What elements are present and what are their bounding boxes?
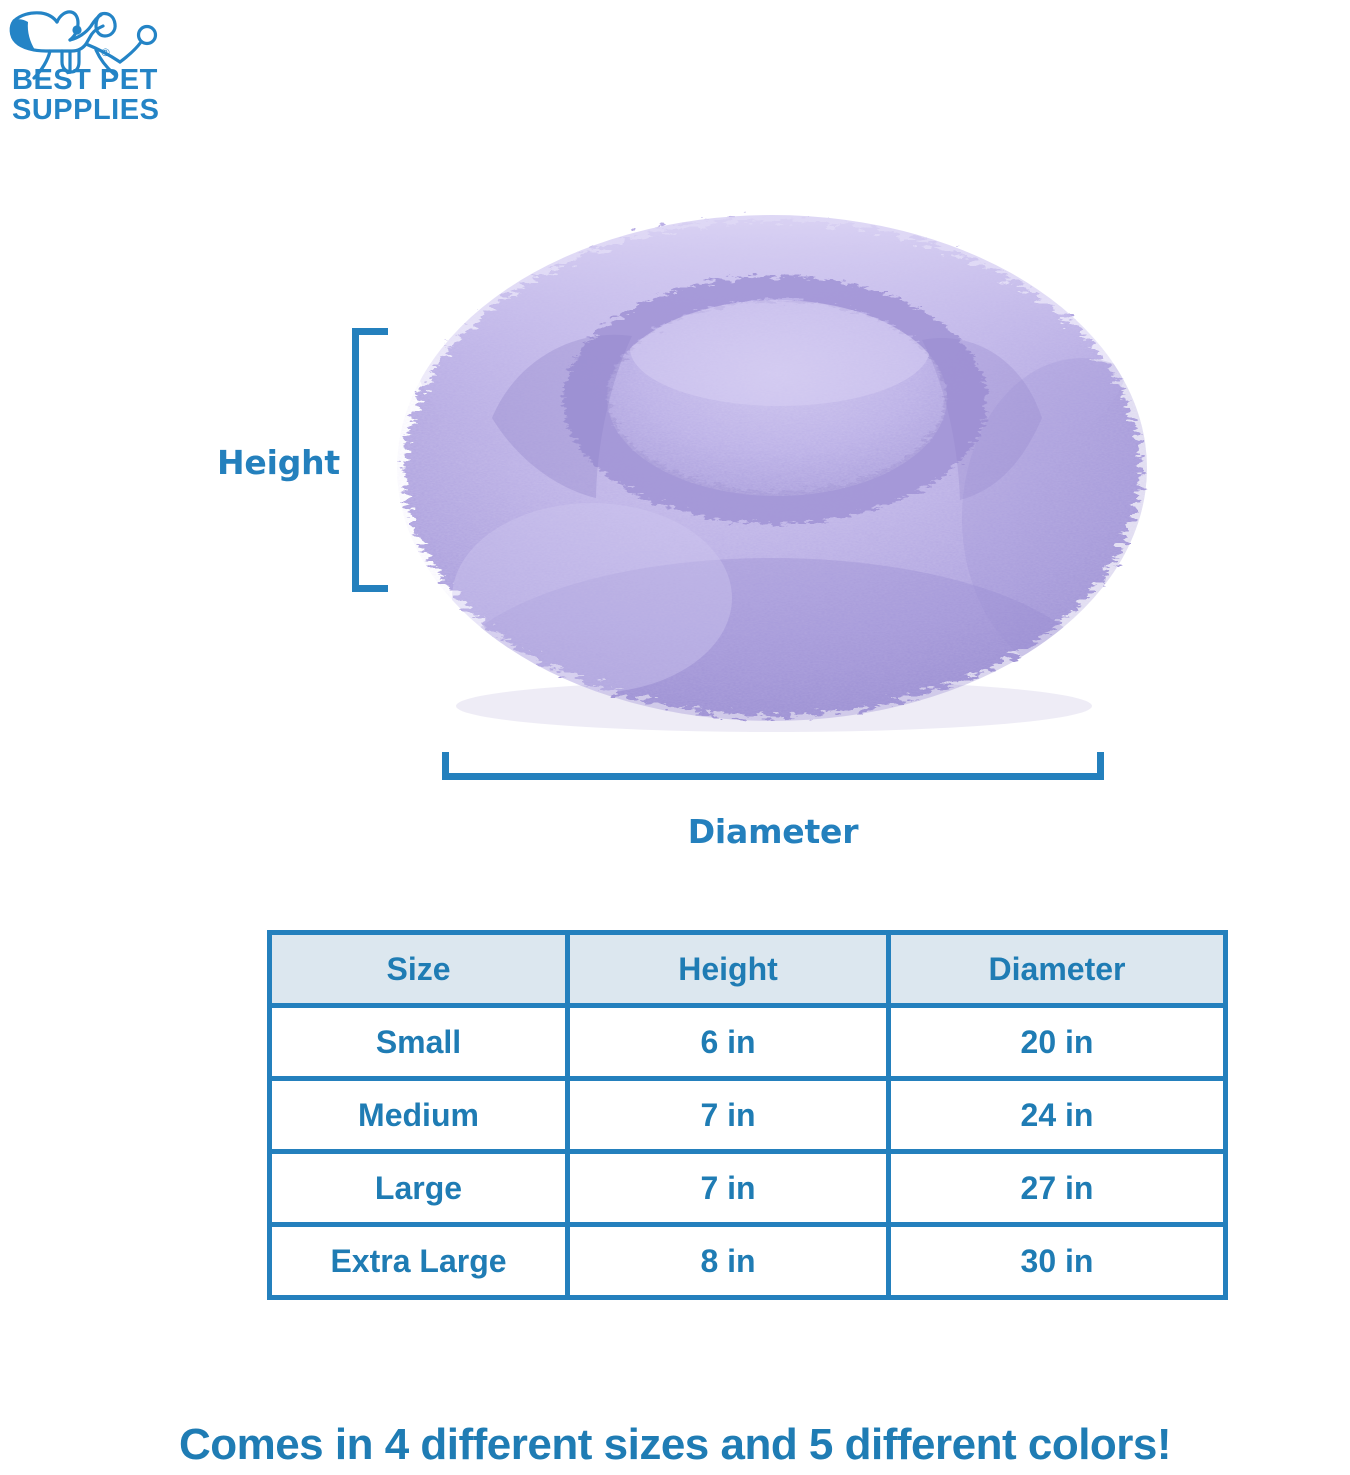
brand-name-line2: SUPPLIES — [12, 94, 159, 126]
cell-diameter: 24 in — [889, 1079, 1226, 1152]
cell-height: 6 in — [568, 1006, 889, 1079]
cell-size: Extra Large — [270, 1225, 568, 1298]
cell-height: 8 in — [568, 1225, 889, 1298]
cell-height: 7 in — [568, 1152, 889, 1225]
footer-caption: Comes in 4 different sizes and 5 differe… — [0, 1420, 1350, 1470]
cell-size: Small — [270, 1006, 568, 1079]
cell-size: Medium — [270, 1079, 568, 1152]
cell-height: 7 in — [568, 1079, 889, 1152]
brand-name-line1: BEST PET — [12, 64, 158, 96]
table-row: Small 6 in 20 in — [270, 1006, 1226, 1079]
cell-diameter: 30 in — [889, 1225, 1226, 1298]
column-header-height: Height — [568, 933, 889, 1006]
diameter-label: Diameter — [473, 812, 1073, 851]
height-label: Height — [150, 443, 340, 482]
product-image-pet-bed — [382, 168, 1162, 738]
cell-diameter: 27 in — [889, 1152, 1226, 1225]
height-measurement-bracket — [352, 328, 388, 592]
column-header-size: Size — [270, 933, 568, 1006]
table-row: Extra Large 8 in 30 in — [270, 1225, 1226, 1298]
registered-trademark-icon: ® — [100, 46, 111, 59]
diameter-measurement-bracket — [442, 752, 1104, 780]
cell-size: Large — [270, 1152, 568, 1225]
cell-diameter: 20 in — [889, 1006, 1226, 1079]
brand-logo: ® BEST PET SUPPLIES — [8, 4, 178, 134]
table-row: Medium 7 in 24 in — [270, 1079, 1226, 1152]
table-row: Large 7 in 27 in — [270, 1152, 1226, 1225]
size-chart-table: Size Height Diameter Small 6 in 20 in Me… — [267, 930, 1228, 1300]
table-header-row: Size Height Diameter — [270, 933, 1226, 1006]
column-header-diameter: Diameter — [889, 933, 1226, 1006]
